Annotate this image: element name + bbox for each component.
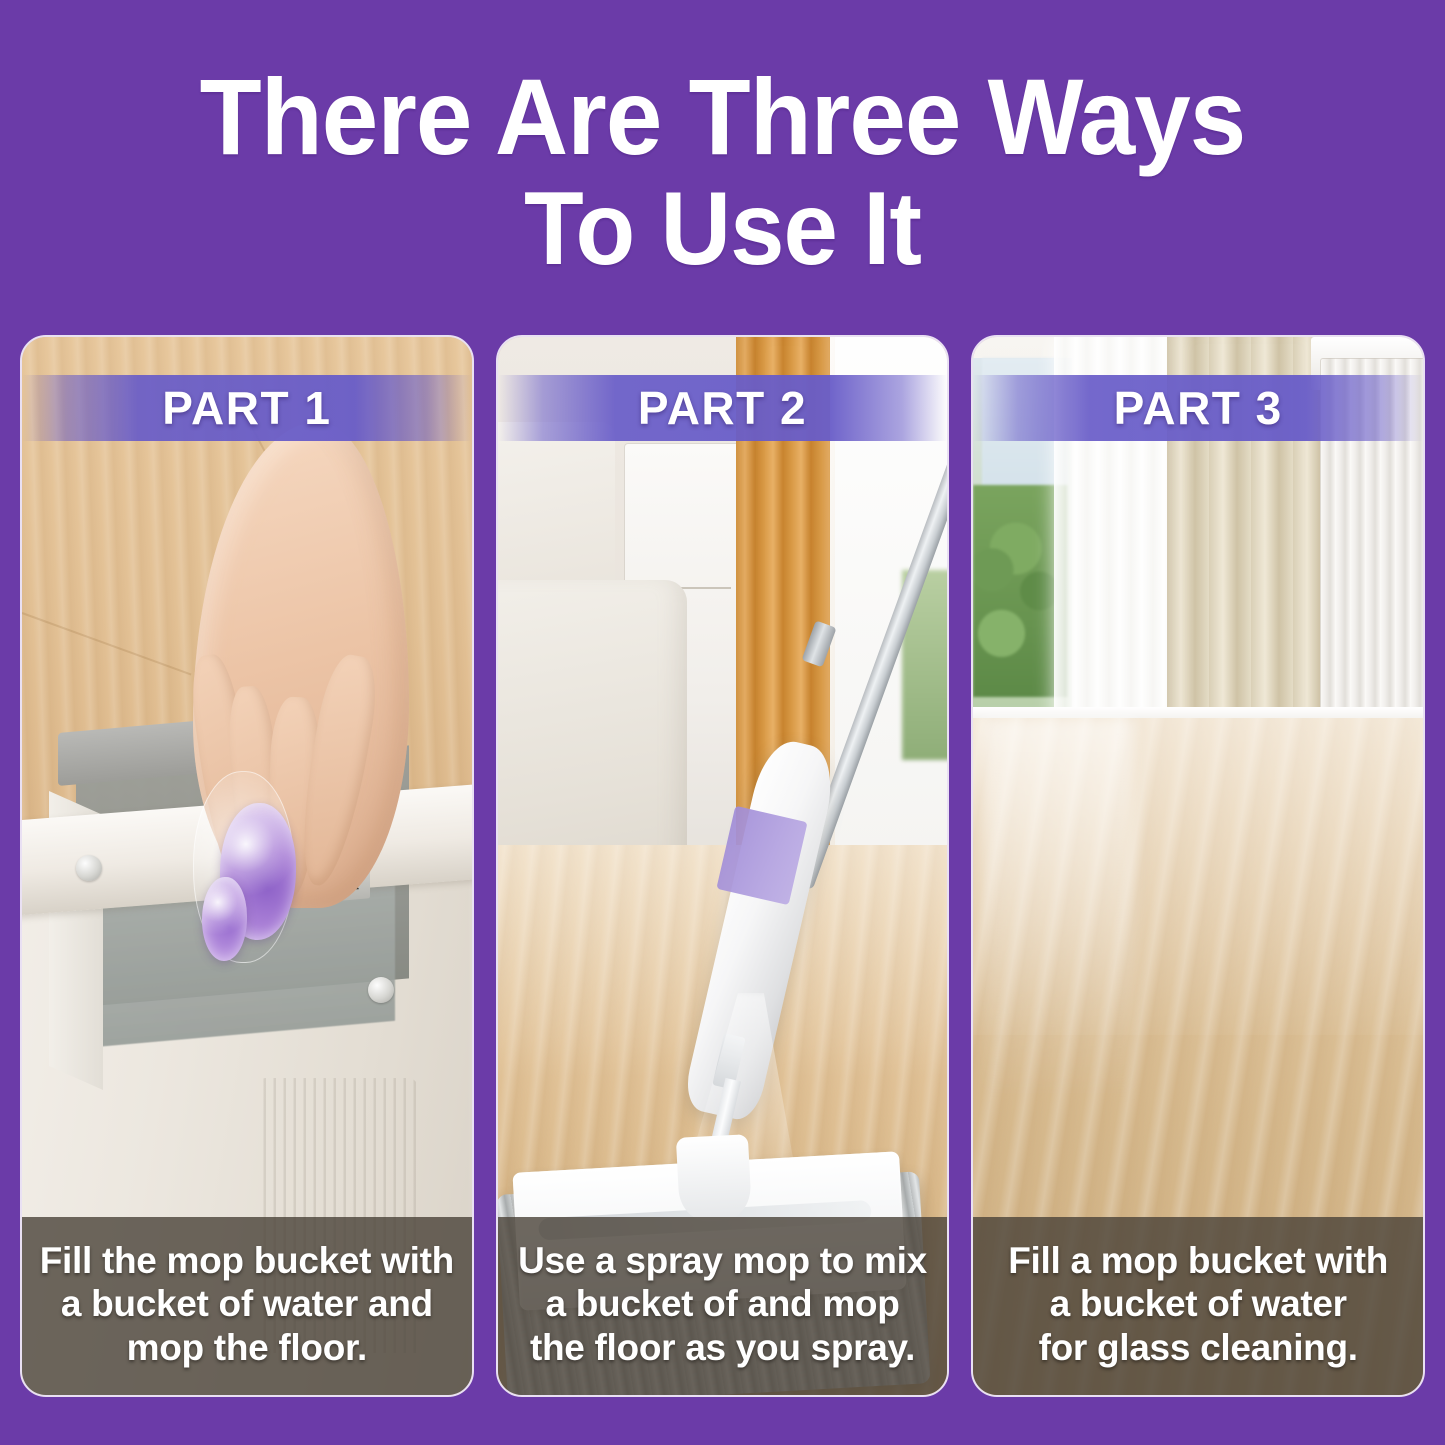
caption-part-3: Fill a mop bucket with a bucket of water… xyxy=(973,1217,1423,1395)
window-reflection xyxy=(982,718,1135,1099)
badge-part-2: PART 2 xyxy=(498,375,948,441)
caption-line: Fill a mop bucket with xyxy=(987,1239,1409,1282)
panel-part-3: PART 3 Fill a mop bucket with a bucket o… xyxy=(971,335,1425,1397)
page-title: There Are Three Ways To Use It xyxy=(0,62,1445,282)
caption-line: a bucket of water and xyxy=(36,1282,458,1325)
title-line-1: There Are Three Ways xyxy=(43,62,1401,172)
caption-part-1: Fill the mop bucket with a bucket of wat… xyxy=(22,1217,472,1395)
caption-line: a bucket of water xyxy=(987,1282,1409,1325)
title-line-2: To Use It xyxy=(43,176,1401,282)
caption-line: mop the floor. xyxy=(36,1326,458,1369)
caption-line: Use a spray mop to mix xyxy=(512,1239,934,1282)
infographic-canvas: There Are Three Ways To Use It MAX xyxy=(0,0,1445,1445)
caption-line: a bucket of and mop xyxy=(512,1282,934,1325)
caption-line: the floor as you spray. xyxy=(512,1326,934,1369)
badge-label: PART 3 xyxy=(1114,381,1283,435)
badge-part-3: PART 3 xyxy=(973,375,1423,441)
panel-part-1: MAX PART 1 Fill the mop bucket with a bu… xyxy=(20,335,474,1397)
caption-part-2: Use a spray mop to mix a bucket of and m… xyxy=(498,1217,948,1395)
badge-label: PART 1 xyxy=(162,381,331,435)
panel-part-2: PART 2 Use a spray mop to mix a bucket o… xyxy=(496,335,950,1397)
caption-line: Fill the mop bucket with xyxy=(36,1239,458,1282)
badge-part-1: PART 1 xyxy=(22,375,472,441)
detergent-pod-lobe xyxy=(202,877,247,962)
mop-swivel-hub xyxy=(675,1134,751,1222)
caption-line: for glass cleaning. xyxy=(987,1326,1409,1369)
badge-label: PART 2 xyxy=(638,381,807,435)
panel-row: MAX PART 1 Fill the mop bucket with a bu… xyxy=(20,335,1425,1397)
